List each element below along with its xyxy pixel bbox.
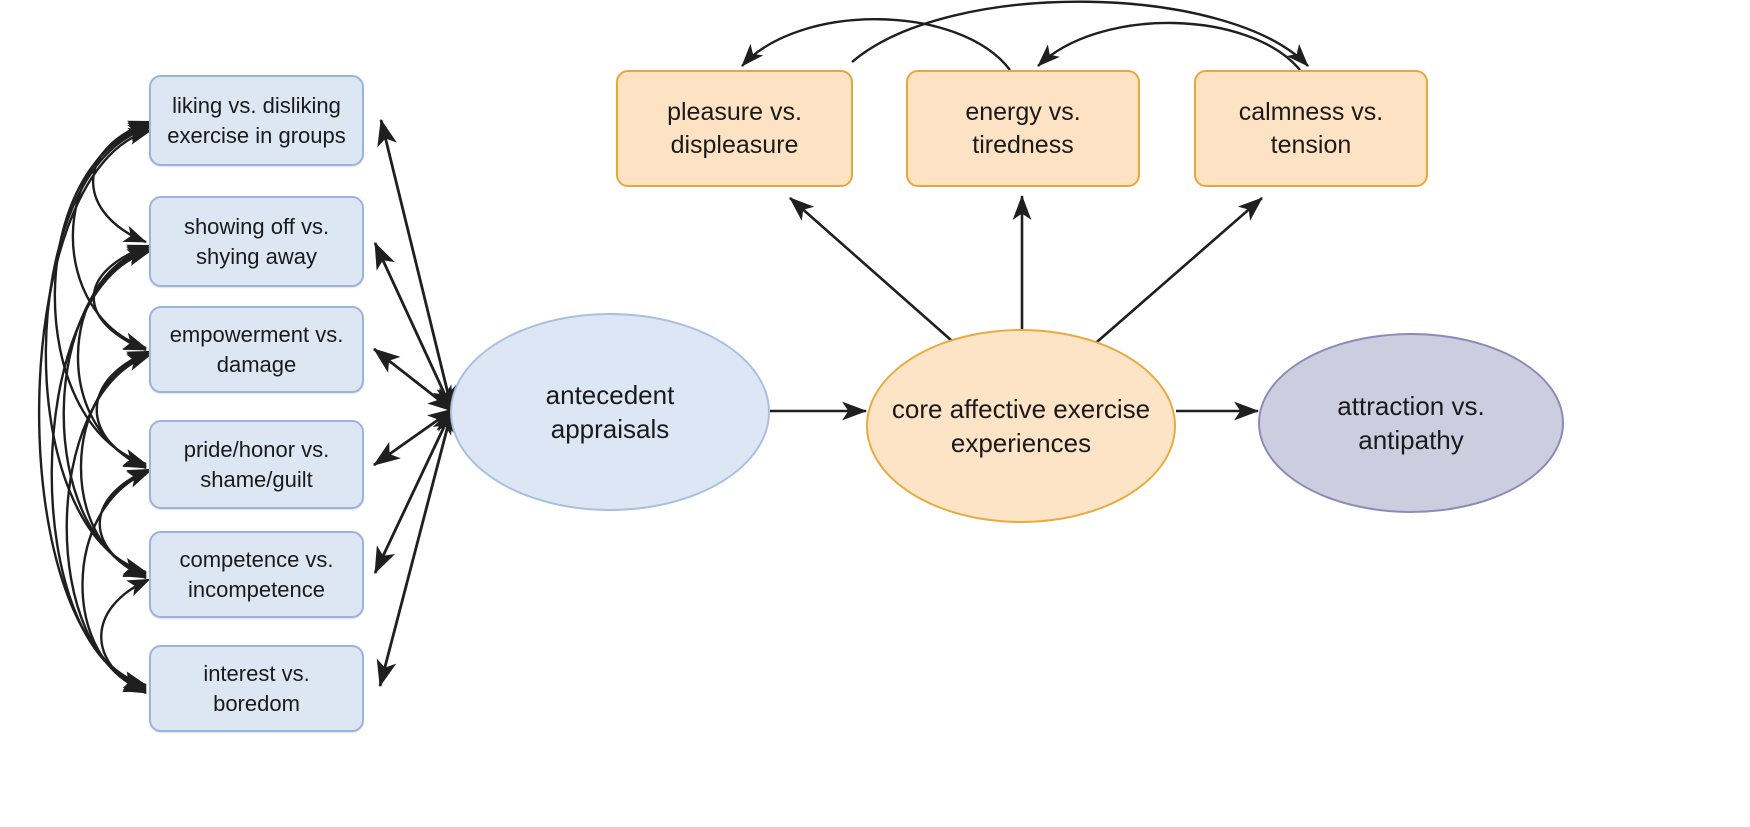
edge-core-to-pleasure: [790, 198, 960, 348]
core-affect-box-energy-label: energy vs. tiredness: [965, 96, 1080, 162]
appraisal-box-showing-off-label: showing off vs. shying away: [184, 212, 329, 270]
appraisal-box-liking[interactable]: liking vs. disliking exercise in groups: [149, 75, 364, 166]
ellipse-attraction-antipathy[interactable]: attraction vs. antipathy: [1258, 333, 1564, 513]
ellipse-core-affective-experiences-label: core affective exercise experiences: [892, 392, 1150, 461]
edge-appraisals-fan: [374, 120, 452, 686]
appraisal-box-empowerment[interactable]: empowerment vs. damage: [149, 306, 364, 393]
core-affect-box-energy[interactable]: energy vs. tiredness: [906, 70, 1140, 187]
appraisal-box-pride[interactable]: pride/honor vs. shame/guilt: [149, 420, 364, 509]
core-affect-box-pleasure[interactable]: pleasure vs. displeasure: [616, 70, 853, 187]
appraisal-box-liking-label: liking vs. disliking exercise in groups: [167, 91, 346, 149]
core-affect-box-calmness-label: calmness vs. tension: [1239, 96, 1383, 162]
appraisal-box-competence-label: competence vs. incompetence: [179, 545, 333, 603]
core-affect-box-calmness[interactable]: calmness vs. tension: [1194, 70, 1428, 187]
appraisal-box-interest[interactable]: interest vs. boredom: [149, 645, 364, 732]
ellipse-attraction-antipathy-label: attraction vs. antipathy: [1337, 389, 1484, 458]
edge-appraisal-correlations: [39, 122, 149, 693]
diagram-canvas: liking vs. disliking exercise in groups …: [0, 0, 1750, 827]
core-affect-box-pleasure-label: pleasure vs. displeasure: [667, 96, 802, 162]
edge-core-affect-crosslinks: [742, 2, 1308, 70]
appraisal-box-showing-off[interactable]: showing off vs. shying away: [149, 196, 364, 287]
ellipse-core-affective-experiences[interactable]: core affective exercise experiences: [866, 329, 1176, 523]
appraisal-box-pride-label: pride/honor vs. shame/guilt: [184, 435, 330, 493]
edge-core-to-calmness: [1090, 198, 1262, 348]
ellipse-antecedent-appraisals[interactable]: antecedent appraisals: [450, 313, 770, 511]
appraisal-box-interest-label: interest vs. boredom: [203, 659, 309, 717]
ellipse-antecedent-appraisals-label: antecedent appraisals: [546, 378, 675, 447]
appraisal-box-competence[interactable]: competence vs. incompetence: [149, 531, 364, 618]
appraisal-box-empowerment-label: empowerment vs. damage: [170, 320, 344, 378]
